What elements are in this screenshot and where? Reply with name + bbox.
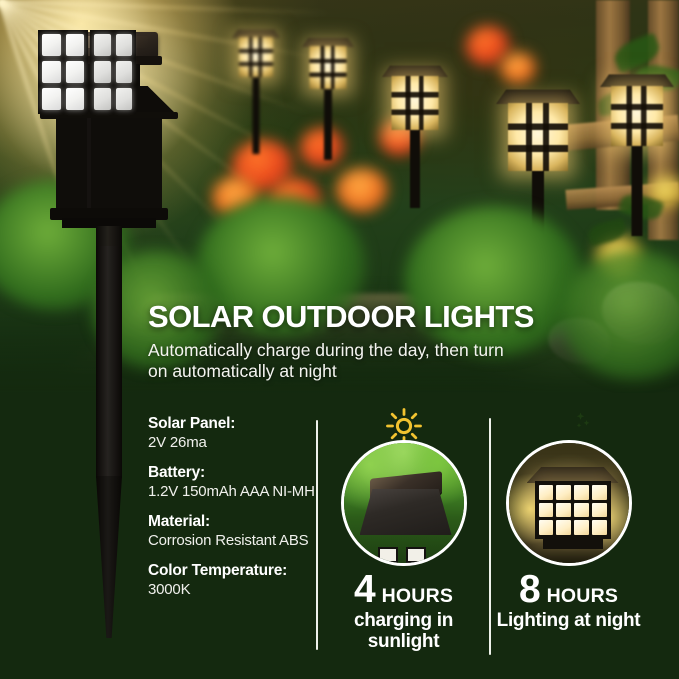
lantern-face-right (90, 30, 136, 114)
spec-item: Color Temperature: 3000K (148, 561, 316, 599)
spec-item: Material: Corrosion Resistant ABS (148, 512, 316, 550)
spec-value: 2V 26ma (148, 433, 316, 452)
spec-item: Solar Panel: 2V 26ma (148, 414, 316, 452)
charging-hours-number: 4 (354, 570, 375, 609)
spec-item: Battery: 1.2V 150mAh AAA NI-MH (148, 463, 316, 501)
spec-label: Battery: (148, 463, 316, 482)
spec-label: Solar Panel: (148, 414, 316, 433)
product-infographic: SOLAR OUTDOOR LIGHTS Automatically charg… (0, 0, 679, 679)
spec-value: Corrosion Resistant ABS (148, 531, 316, 550)
charging-hours-unit: HOURS (382, 585, 453, 608)
lighting-caption: Lighting at night (481, 610, 656, 631)
lighting-hours-number: 8 (519, 570, 540, 609)
feature-lighting: 8 HOURS Lighting at night (481, 404, 656, 631)
charging-caption: charging in sunlight (316, 610, 491, 652)
hero-solar-lantern (34, 26, 184, 246)
background-lamp (302, 32, 354, 160)
spec-value: 3000K (148, 580, 316, 599)
lantern-post-upper (96, 246, 122, 401)
spec-label: Material: (148, 512, 316, 531)
background-lamp (600, 66, 674, 236)
lantern-night-photo (506, 440, 632, 566)
headline-block: SOLAR OUTDOOR LIGHTS Automatically charg… (148, 300, 534, 382)
page-subtitle: Automatically charge during the day, the… (148, 340, 518, 382)
lantern-face-left (38, 30, 88, 114)
spec-list: Solar Panel: 2V 26ma Battery: 1.2V 150mA… (148, 414, 316, 610)
spec-label: Color Temperature: (148, 561, 316, 580)
spec-value: 1.2V 150mAh AAA NI-MH (148, 482, 316, 501)
feature-charging: 4 HOURS charging in sunlight (316, 404, 491, 652)
lantern-post-lower (96, 396, 122, 478)
background-lamp (232, 24, 280, 154)
background-lamp (382, 58, 448, 208)
solar-panel-daylight-photo (341, 440, 467, 566)
lighting-hours-unit: HOURS (547, 585, 618, 608)
lantern-window-cage (56, 118, 162, 210)
page-title: SOLAR OUTDOOR LIGHTS (148, 300, 534, 334)
